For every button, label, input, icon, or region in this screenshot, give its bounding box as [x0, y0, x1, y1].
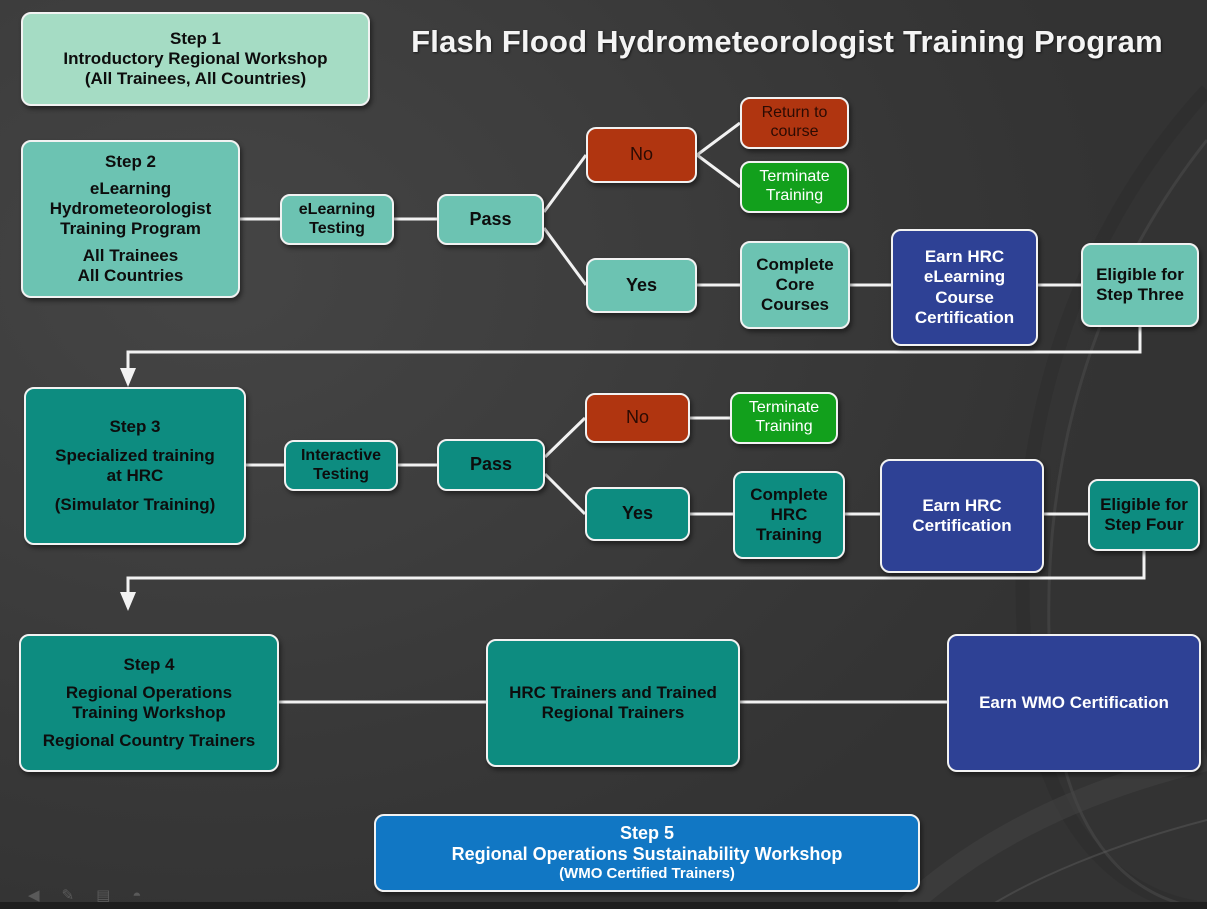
- earn-hrc-cert-line-2: Certification: [886, 516, 1038, 536]
- terminate-row2-line-1: Terminate: [746, 168, 843, 187]
- step-2-line-5: All Trainees: [27, 246, 234, 266]
- complete-core-line-1: Complete: [746, 255, 844, 275]
- step-4-line-3: Training Workshop: [25, 703, 273, 723]
- step-1-line-2: Introductory Regional Workshop: [27, 49, 364, 69]
- step-3-line-3: at HRC: [30, 466, 240, 486]
- step-5-line-2: Regional Operations Sustainability Works…: [380, 844, 914, 865]
- hrc-trainers-line-2: Regional Trainers: [492, 703, 734, 723]
- complete-core-courses-node[interactable]: Complete Core Courses: [740, 241, 850, 329]
- step-3-node[interactable]: Step 3 Specialized training at HRC (Simu…: [24, 387, 246, 545]
- pass-row2-label: Pass: [443, 209, 538, 230]
- complete-core-line-3: Courses: [746, 295, 844, 315]
- pass-decision-row3[interactable]: Pass: [437, 439, 545, 491]
- pen-icon[interactable]: ✎: [62, 888, 75, 903]
- magnifier-icon[interactable]: ◓: [132, 888, 141, 903]
- slide-menu-icon[interactable]: ▤: [96, 888, 110, 903]
- terminate-training-row3[interactable]: Terminate Training: [730, 392, 838, 444]
- step-5-node[interactable]: Step 5 Regional Operations Sustainabilit…: [374, 814, 920, 892]
- step-1-node[interactable]: Step 1 Introductory Regional Workshop (A…: [21, 12, 370, 106]
- link-no-return-to-course: [697, 123, 740, 155]
- yes-row3-label: Yes: [591, 503, 684, 524]
- step-2-line-4: Training Program: [27, 219, 234, 239]
- elearning-testing-line-1: eLearning: [286, 201, 388, 220]
- interactive-testing-line-1: Interactive: [290, 447, 392, 466]
- terminate-training-row2[interactable]: Terminate Training: [740, 161, 849, 213]
- yes-branch-row3[interactable]: Yes: [585, 487, 690, 541]
- earn-hrc-elearning-certification-node[interactable]: Earn HRC eLearning Course Certification: [891, 229, 1038, 346]
- step-5-line-3: (WMO Certified Trainers): [380, 865, 914, 883]
- interactive-testing-node[interactable]: Interactive Testing: [284, 440, 398, 491]
- eligible-four-line-1: Eligible for: [1094, 495, 1194, 515]
- arrowhead-step4: [120, 592, 136, 611]
- step-2-line-3: Hydrometeorologist: [27, 199, 234, 219]
- step-4-line-1: Step 4: [25, 655, 273, 675]
- step-2-node[interactable]: Step 2 eLearning Hydrometeorologist Trai…: [21, 140, 240, 298]
- step-3-line-1: Step 3: [30, 417, 240, 437]
- hrc-trainers-node[interactable]: HRC Trainers and Trained Regional Traine…: [486, 639, 740, 767]
- bottom-strip: [0, 902, 1207, 909]
- step-2-line-6: All Countries: [27, 266, 234, 286]
- no-row2-label: No: [592, 144, 691, 165]
- pass-row3-label: Pass: [443, 454, 539, 475]
- terminate-row3-line-2: Training: [736, 418, 832, 437]
- earn-wmo-cert-label: Earn WMO Certification: [953, 693, 1195, 713]
- slideshow-controls[interactable]: ◀ ✎ ▤ ◓: [28, 888, 141, 903]
- earn-hrc-elearning-line-2: eLearning: [897, 267, 1032, 287]
- earn-hrc-elearning-line-3: Course: [897, 288, 1032, 308]
- earn-hrc-elearning-line-4: Certification: [897, 308, 1032, 328]
- link-no-terminate-row2: [697, 155, 740, 187]
- step-5-line-1: Step 5: [380, 823, 914, 844]
- step-4-node[interactable]: Step 4 Regional Operations Training Work…: [19, 634, 279, 772]
- interactive-testing-line-2: Testing: [290, 466, 392, 485]
- step-3-line-4: (Simulator Training): [30, 495, 240, 515]
- terminate-row3-line-1: Terminate: [736, 399, 832, 418]
- step-3-line-2: Specialized training: [30, 446, 240, 466]
- arrowhead-step3: [120, 368, 136, 387]
- eligible-three-line-1: Eligible for: [1087, 265, 1193, 285]
- complete-hrc-line-2: HRC: [739, 505, 839, 525]
- earn-hrc-elearning-line-1: Earn HRC: [897, 247, 1032, 267]
- step-4-line-4: Regional Country Trainers: [25, 731, 273, 751]
- terminate-row2-line-2: Training: [746, 187, 843, 206]
- link-pass-no-row2: [544, 155, 586, 212]
- previous-slide-icon[interactable]: ◀: [28, 888, 40, 903]
- yes-row2-label: Yes: [592, 275, 691, 296]
- link-pass-yes-row3: [545, 474, 585, 514]
- elearning-testing-node[interactable]: eLearning Testing: [280, 194, 394, 245]
- slide-title: Flash Flood Hydrometeorologist Training …: [392, 24, 1182, 60]
- step-4-line-2: Regional Operations: [25, 683, 273, 703]
- earn-wmo-certification-node[interactable]: Earn WMO Certification: [947, 634, 1201, 772]
- return-to-course-node[interactable]: Return to course: [740, 97, 849, 149]
- no-row3-label: No: [591, 407, 684, 428]
- link-pass-yes-row2: [544, 228, 586, 285]
- no-branch-row2[interactable]: No: [586, 127, 697, 183]
- complete-hrc-line-1: Complete: [739, 485, 839, 505]
- yes-branch-row2[interactable]: Yes: [586, 258, 697, 313]
- return-to-course-line-1: Return to: [746, 104, 843, 123]
- eligible-four-line-2: Step Four: [1094, 515, 1194, 535]
- eligible-three-line-2: Step Three: [1087, 285, 1193, 305]
- earn-hrc-certification-node[interactable]: Earn HRC Certification: [880, 459, 1044, 573]
- link-pass-no-row3: [545, 418, 585, 457]
- complete-hrc-line-3: Training: [739, 525, 839, 545]
- step-1-line-3: (All Trainees, All Countries): [27, 69, 364, 89]
- hrc-trainers-line-1: HRC Trainers and Trained: [492, 683, 734, 703]
- eligible-step-three-node[interactable]: Eligible for Step Three: [1081, 243, 1199, 327]
- earn-hrc-cert-line-1: Earn HRC: [886, 496, 1038, 516]
- presentation-slide: Flash Flood Hydrometeorologist Training …: [0, 0, 1207, 909]
- elearning-testing-line-2: Testing: [286, 220, 388, 239]
- step-1-line-1: Step 1: [27, 29, 364, 49]
- pass-decision-row2[interactable]: Pass: [437, 194, 544, 245]
- complete-core-line-2: Core: [746, 275, 844, 295]
- return-to-course-line-2: course: [746, 123, 843, 142]
- eligible-step-four-node[interactable]: Eligible for Step Four: [1088, 479, 1200, 551]
- complete-hrc-training-node[interactable]: Complete HRC Training: [733, 471, 845, 559]
- step-2-line-1: Step 2: [27, 152, 234, 172]
- step-2-line-2: eLearning: [27, 179, 234, 199]
- no-branch-row3[interactable]: No: [585, 393, 690, 443]
